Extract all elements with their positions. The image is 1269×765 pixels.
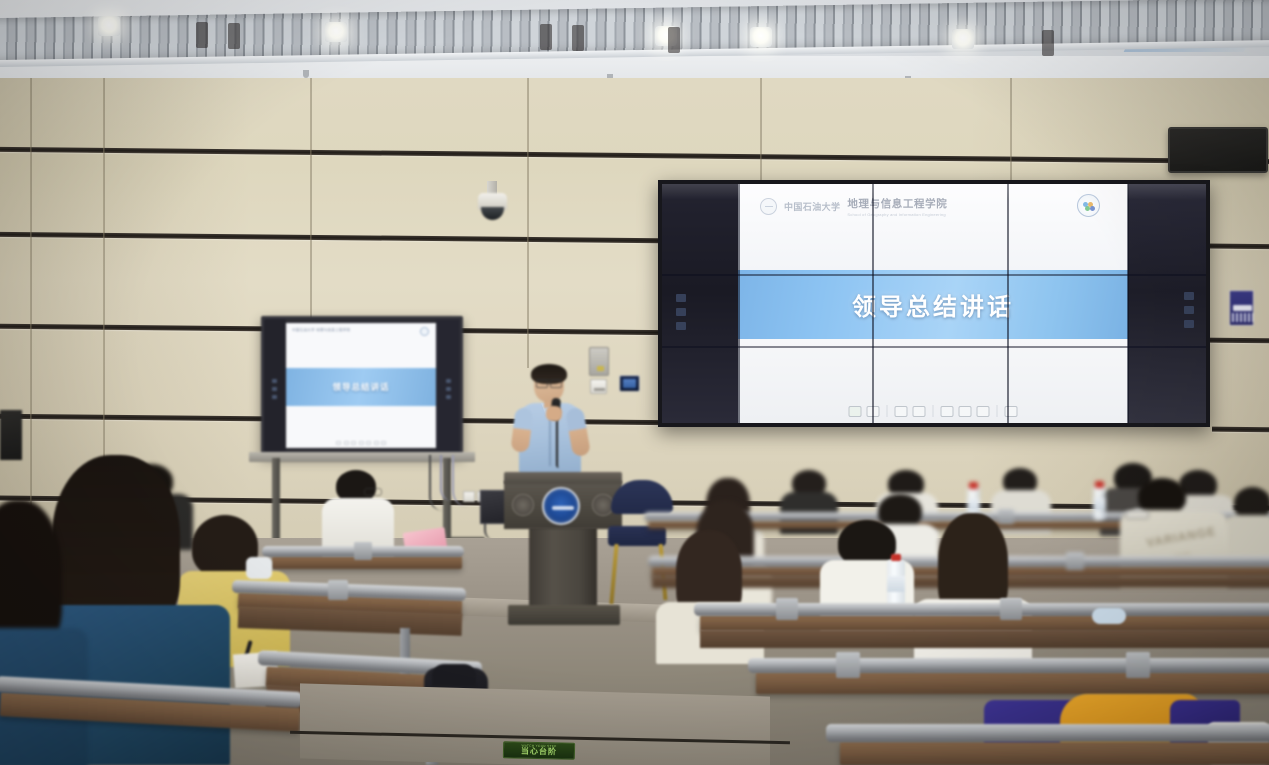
slide-title-band: 领导总结讲话 — [738, 270, 1128, 339]
university-crest-icon — [760, 198, 777, 215]
podium-speaker-grille — [512, 494, 534, 516]
rail-clamp — [354, 542, 372, 560]
ceiling — [0, 0, 1269, 88]
rail-clamp — [1126, 652, 1150, 678]
display-cable — [452, 455, 468, 507]
glasses-icon — [1125, 510, 1149, 519]
display-cable — [440, 455, 452, 501]
pen-icon[interactable] — [359, 441, 364, 446]
person-hair — [878, 494, 922, 528]
wall-power-outlet[interactable] — [590, 379, 607, 394]
toolbar-divider — [933, 405, 934, 417]
panel-button[interactable] — [676, 308, 686, 316]
glasses-icon — [536, 379, 562, 385]
wall-groove — [1212, 427, 1269, 433]
slide-badge-icon — [1077, 194, 1100, 217]
monitor-button[interactable] — [446, 379, 451, 383]
presenter-shirt-placket — [549, 414, 551, 466]
water-bottle — [1093, 486, 1106, 520]
person-hair — [1138, 478, 1186, 514]
screen-icon[interactable] — [977, 406, 990, 417]
cursor-icon[interactable] — [351, 441, 356, 446]
podium-emblem-icon — [542, 487, 580, 525]
bottle-cap — [1095, 481, 1104, 488]
panel-button[interactable] — [676, 322, 686, 330]
wall-seam — [1010, 78, 1012, 183]
wall-seam — [30, 78, 32, 556]
video-wall-seam — [1127, 184, 1129, 423]
badge-dots — [1083, 202, 1096, 212]
ceiling-fixture — [668, 27, 680, 53]
pen-icon[interactable] — [913, 406, 926, 417]
podium-column — [529, 527, 597, 609]
poster-banner — [1233, 305, 1252, 311]
monitor-button[interactable] — [272, 395, 277, 399]
magnifier-icon[interactable] — [959, 406, 972, 417]
rail-clamp — [776, 598, 798, 620]
bottle-cap — [969, 482, 978, 489]
monitor-button[interactable] — [446, 387, 451, 391]
downlight — [325, 22, 347, 42]
video-wall-seam — [662, 274, 1206, 276]
downlight — [750, 27, 772, 47]
ceiling-fixture — [196, 22, 208, 48]
wall-seam — [527, 78, 529, 368]
glasses-icon — [364, 488, 382, 496]
panel-button[interactable] — [1184, 320, 1194, 328]
ceiling-fixture — [228, 23, 240, 49]
lecture-hall-scene: 领导总结讲话 中国石油大学 地理与信息工程学院 School of Geogra… — [0, 0, 1269, 765]
rail-clamp — [1000, 598, 1022, 620]
wall-seam — [760, 78, 762, 183]
wall-groove — [1205, 338, 1269, 344]
bottle-label — [967, 499, 980, 511]
slide-university-name: 中国石油大学 — [784, 200, 840, 213]
eraser-icon[interactable] — [941, 406, 954, 417]
desk-front-panel — [700, 630, 1269, 648]
microphone-cable — [556, 418, 559, 468]
bottle-cap — [891, 554, 901, 561]
backpack-strap — [432, 664, 476, 686]
video-wall-seam — [872, 184, 874, 423]
projector-icon[interactable] — [336, 441, 341, 446]
slide-school-name: 地理与信息工程学院 — [847, 196, 947, 211]
desk-row — [840, 742, 1269, 765]
notice-poster — [1229, 290, 1254, 326]
video-wall-seam — [1007, 184, 1009, 423]
projector-icon[interactable] — [849, 406, 862, 417]
wall-speaker-right — [1168, 127, 1268, 173]
monitor-slide-title: 领导总结讲话 — [286, 368, 436, 406]
bottle-label — [1093, 498, 1106, 510]
presenter-hand — [545, 405, 562, 422]
video-wall-panel-right — [1128, 184, 1206, 423]
video-wall-display[interactable]: 领导总结讲话 中国石油大学 地理与信息工程学院 School of Geogra… — [658, 180, 1210, 427]
chair-seat — [608, 526, 666, 546]
desk-row — [756, 672, 1269, 694]
slide-branding: 中国石油大学 地理与信息工程学院 School of Geography and… — [760, 196, 947, 217]
desk-rail — [826, 724, 1269, 742]
monitor-button[interactable] — [272, 387, 277, 391]
video-wall-panel-left — [662, 184, 738, 423]
monitor-button[interactable] — [272, 379, 277, 383]
monitor-slide: 中国石油大学 地理与信息工程学院 领导总结讲话 — [286, 323, 436, 448]
podium-top — [504, 472, 622, 484]
video-wall-inner: 领导总结讲话 中国石油大学 地理与信息工程学院 School of Geogra… — [662, 184, 1206, 423]
panel-button[interactable] — [676, 294, 686, 302]
sprinkler-head — [303, 70, 309, 78]
monitor-slide-header: 中国石油大学 地理与信息工程学院 — [292, 328, 350, 333]
monitor-slide-badge-icon — [420, 327, 429, 336]
slide-sorter-icon[interactable] — [344, 441, 349, 446]
slide-school-name-en: School of Geography and Information Engi… — [847, 212, 947, 217]
downlight — [98, 16, 120, 36]
ceiling-fixture — [1042, 30, 1054, 56]
monitor-toolbar[interactable] — [336, 441, 386, 446]
rail-clamp — [836, 652, 860, 678]
wall-touch-display[interactable] — [619, 375, 640, 392]
desk-rail — [748, 658, 1269, 673]
water-bottle — [887, 560, 905, 606]
panel-button[interactable] — [1184, 292, 1194, 300]
monitor-bezel-right — [436, 319, 460, 452]
toolbar-divider — [887, 405, 888, 417]
ceiling-fixture — [540, 24, 552, 50]
video-wall-seam — [738, 184, 740, 423]
face-mask — [246, 557, 272, 579]
monitor-bezel-left — [264, 319, 286, 452]
display-screen — [623, 379, 636, 388]
rail-clamp — [998, 509, 1014, 524]
ceiling-fixture — [572, 25, 584, 51]
cursor-icon[interactable] — [895, 406, 908, 417]
poster-grid — [1232, 313, 1253, 322]
floor-sign-text-cn: 当心台阶 — [521, 747, 557, 757]
podium-base — [508, 605, 620, 625]
presentation-slide: 领导总结讲话 中国石油大学 地理与信息工程学院 School of Geogra… — [738, 184, 1128, 423]
panel-button[interactable] — [1184, 306, 1194, 314]
eraser-icon[interactable] — [366, 441, 371, 446]
bottle-label — [887, 576, 905, 592]
slide-title: 领导总结讲话 — [738, 270, 1128, 339]
confidence-monitor[interactable]: 中国石油大学 地理与信息工程学院 领导总结讲话 — [261, 316, 463, 455]
video-wall-seam — [662, 346, 1206, 348]
wall-seam — [310, 78, 312, 328]
downlight — [952, 29, 974, 49]
face-mask — [1092, 608, 1126, 624]
wall-control-panel[interactable] — [589, 347, 609, 376]
wall-speaker-left — [0, 410, 22, 460]
floor-caution-sign: WATCH YOUR STEP 当心台阶 — [503, 741, 575, 760]
monitor-button[interactable] — [446, 395, 451, 399]
rail-clamp — [1066, 552, 1084, 570]
monitor-slide-band: 领导总结讲话 — [286, 368, 436, 406]
toolbar-divider — [997, 405, 998, 417]
magnifier-icon[interactable] — [374, 441, 379, 446]
rail-clamp — [328, 580, 348, 600]
monitor-stand-leg — [272, 458, 280, 546]
screen-icon[interactable] — [381, 441, 386, 446]
